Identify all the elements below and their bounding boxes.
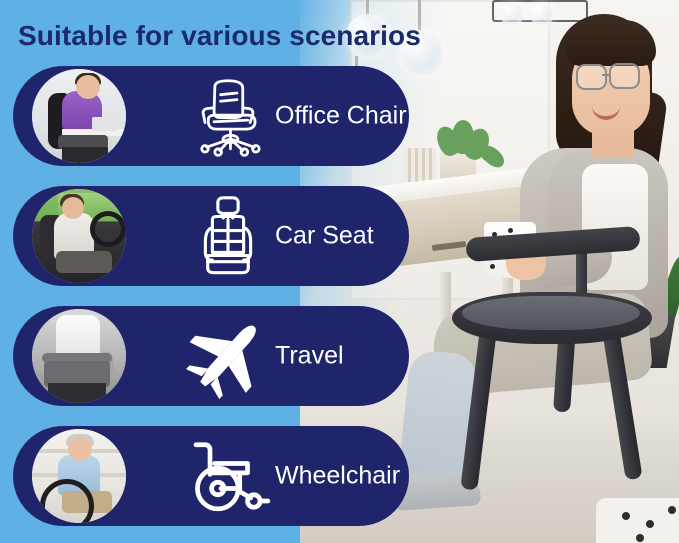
scenarios-infographic: Suitable for various scenarios	[0, 0, 679, 543]
rug-dot	[636, 534, 644, 542]
scenario-photo-wheelchair	[32, 429, 126, 523]
desk-basket	[404, 148, 436, 182]
scenario-photo-car-seat	[32, 189, 126, 283]
rug-dot	[668, 506, 676, 514]
scenario-label-travel: Travel	[275, 342, 344, 371]
hair-front	[566, 20, 656, 66]
scenario-pill-wheelchair[interactable]: Wheelchair	[13, 426, 409, 526]
scenario-label-car-seat: Car Seat	[275, 222, 374, 251]
scenario-pill-car-seat[interactable]: Car Seat	[13, 186, 409, 286]
car-seat-icon	[185, 193, 271, 279]
scenario-photo-office-chair	[32, 69, 126, 163]
wheelchair-icon	[185, 433, 271, 519]
scenario-label-office-chair: Office Chair	[275, 102, 407, 131]
scenario-photo-travel	[32, 309, 126, 403]
scenario-label-wheelchair: Wheelchair	[275, 462, 400, 491]
eyeglass-lens	[609, 63, 640, 89]
scenario-pill-travel[interactable]: Travel	[13, 306, 409, 406]
lamp-globe	[530, 2, 554, 26]
rug-dot	[622, 512, 630, 520]
page-title: Suitable for various scenarios	[18, 20, 421, 52]
eyeglass-lens	[576, 64, 607, 90]
seat-cushion	[462, 296, 640, 330]
rug-dot	[646, 520, 654, 528]
lamp-globe	[500, 2, 524, 26]
scenario-pill-office-chair[interactable]: Office Chair	[13, 66, 409, 166]
eyeglass-bridge	[602, 74, 611, 76]
airplane-icon	[185, 313, 271, 399]
office-chair-icon	[185, 73, 271, 159]
